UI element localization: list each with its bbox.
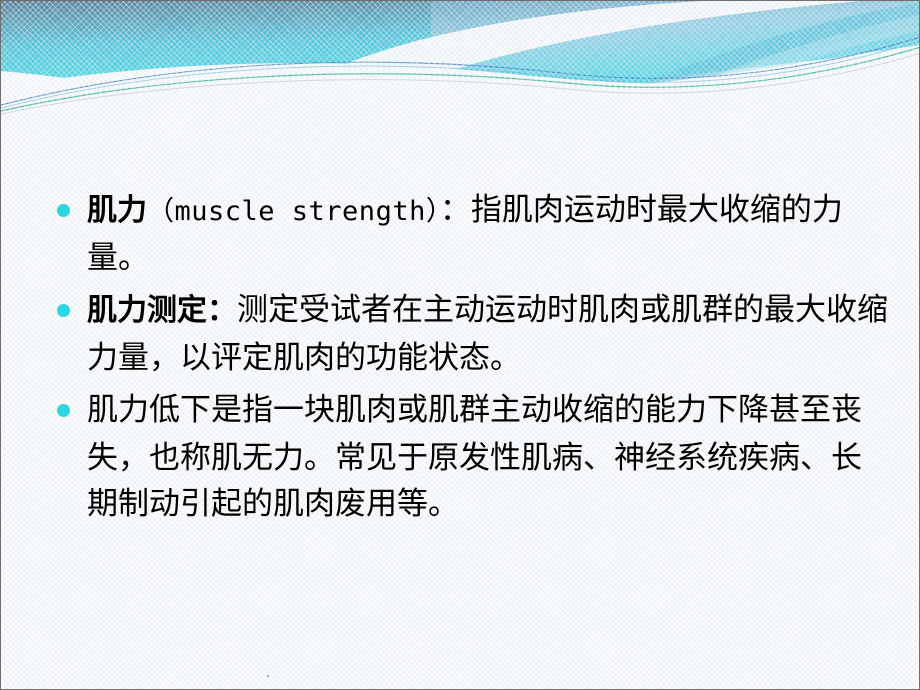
bullet-list: 肌力（muscle strength）：指肌肉运动时最大收缩的力量。 肌力测定：… — [49, 187, 889, 533]
slide-content: 肌力（muscle strength）：指肌肉运动时最大收缩的力量。 肌力测定：… — [1, 1, 920, 690]
list-item: 肌力测定：测定受试者在主动运动时肌肉或肌群的最大收缩力量，以评定肌肉的功能状态。 — [49, 287, 889, 381]
presentation-slide: 肌力（muscle strength）：指肌肉运动时最大收缩的力量。 肌力测定：… — [0, 0, 920, 690]
bullet-lead-term: 肌力测定： — [87, 293, 237, 328]
bullet-disc-icon — [57, 404, 70, 417]
bullet-disc-icon — [57, 304, 70, 317]
bullet-lead-term: 肌力 — [87, 193, 147, 228]
footer-mark: . — [266, 667, 270, 680]
bullet-disc-icon — [57, 204, 70, 217]
list-item: 肌力（muscle strength）：指肌肉运动时最大收缩的力量。 — [49, 187, 889, 281]
list-item: 肌力低下是指一块肌肉或肌群主动收缩的能力下降甚至丧失，也称肌无力。常见于原发性肌… — [49, 387, 889, 527]
bullet-body-text: 肌力低下是指一块肌肉或肌群主动收缩的能力下降甚至丧失，也称肌无力。常见于原发性肌… — [87, 392, 862, 522]
bullet-latin-term: （muscle strength） — [147, 196, 440, 227]
